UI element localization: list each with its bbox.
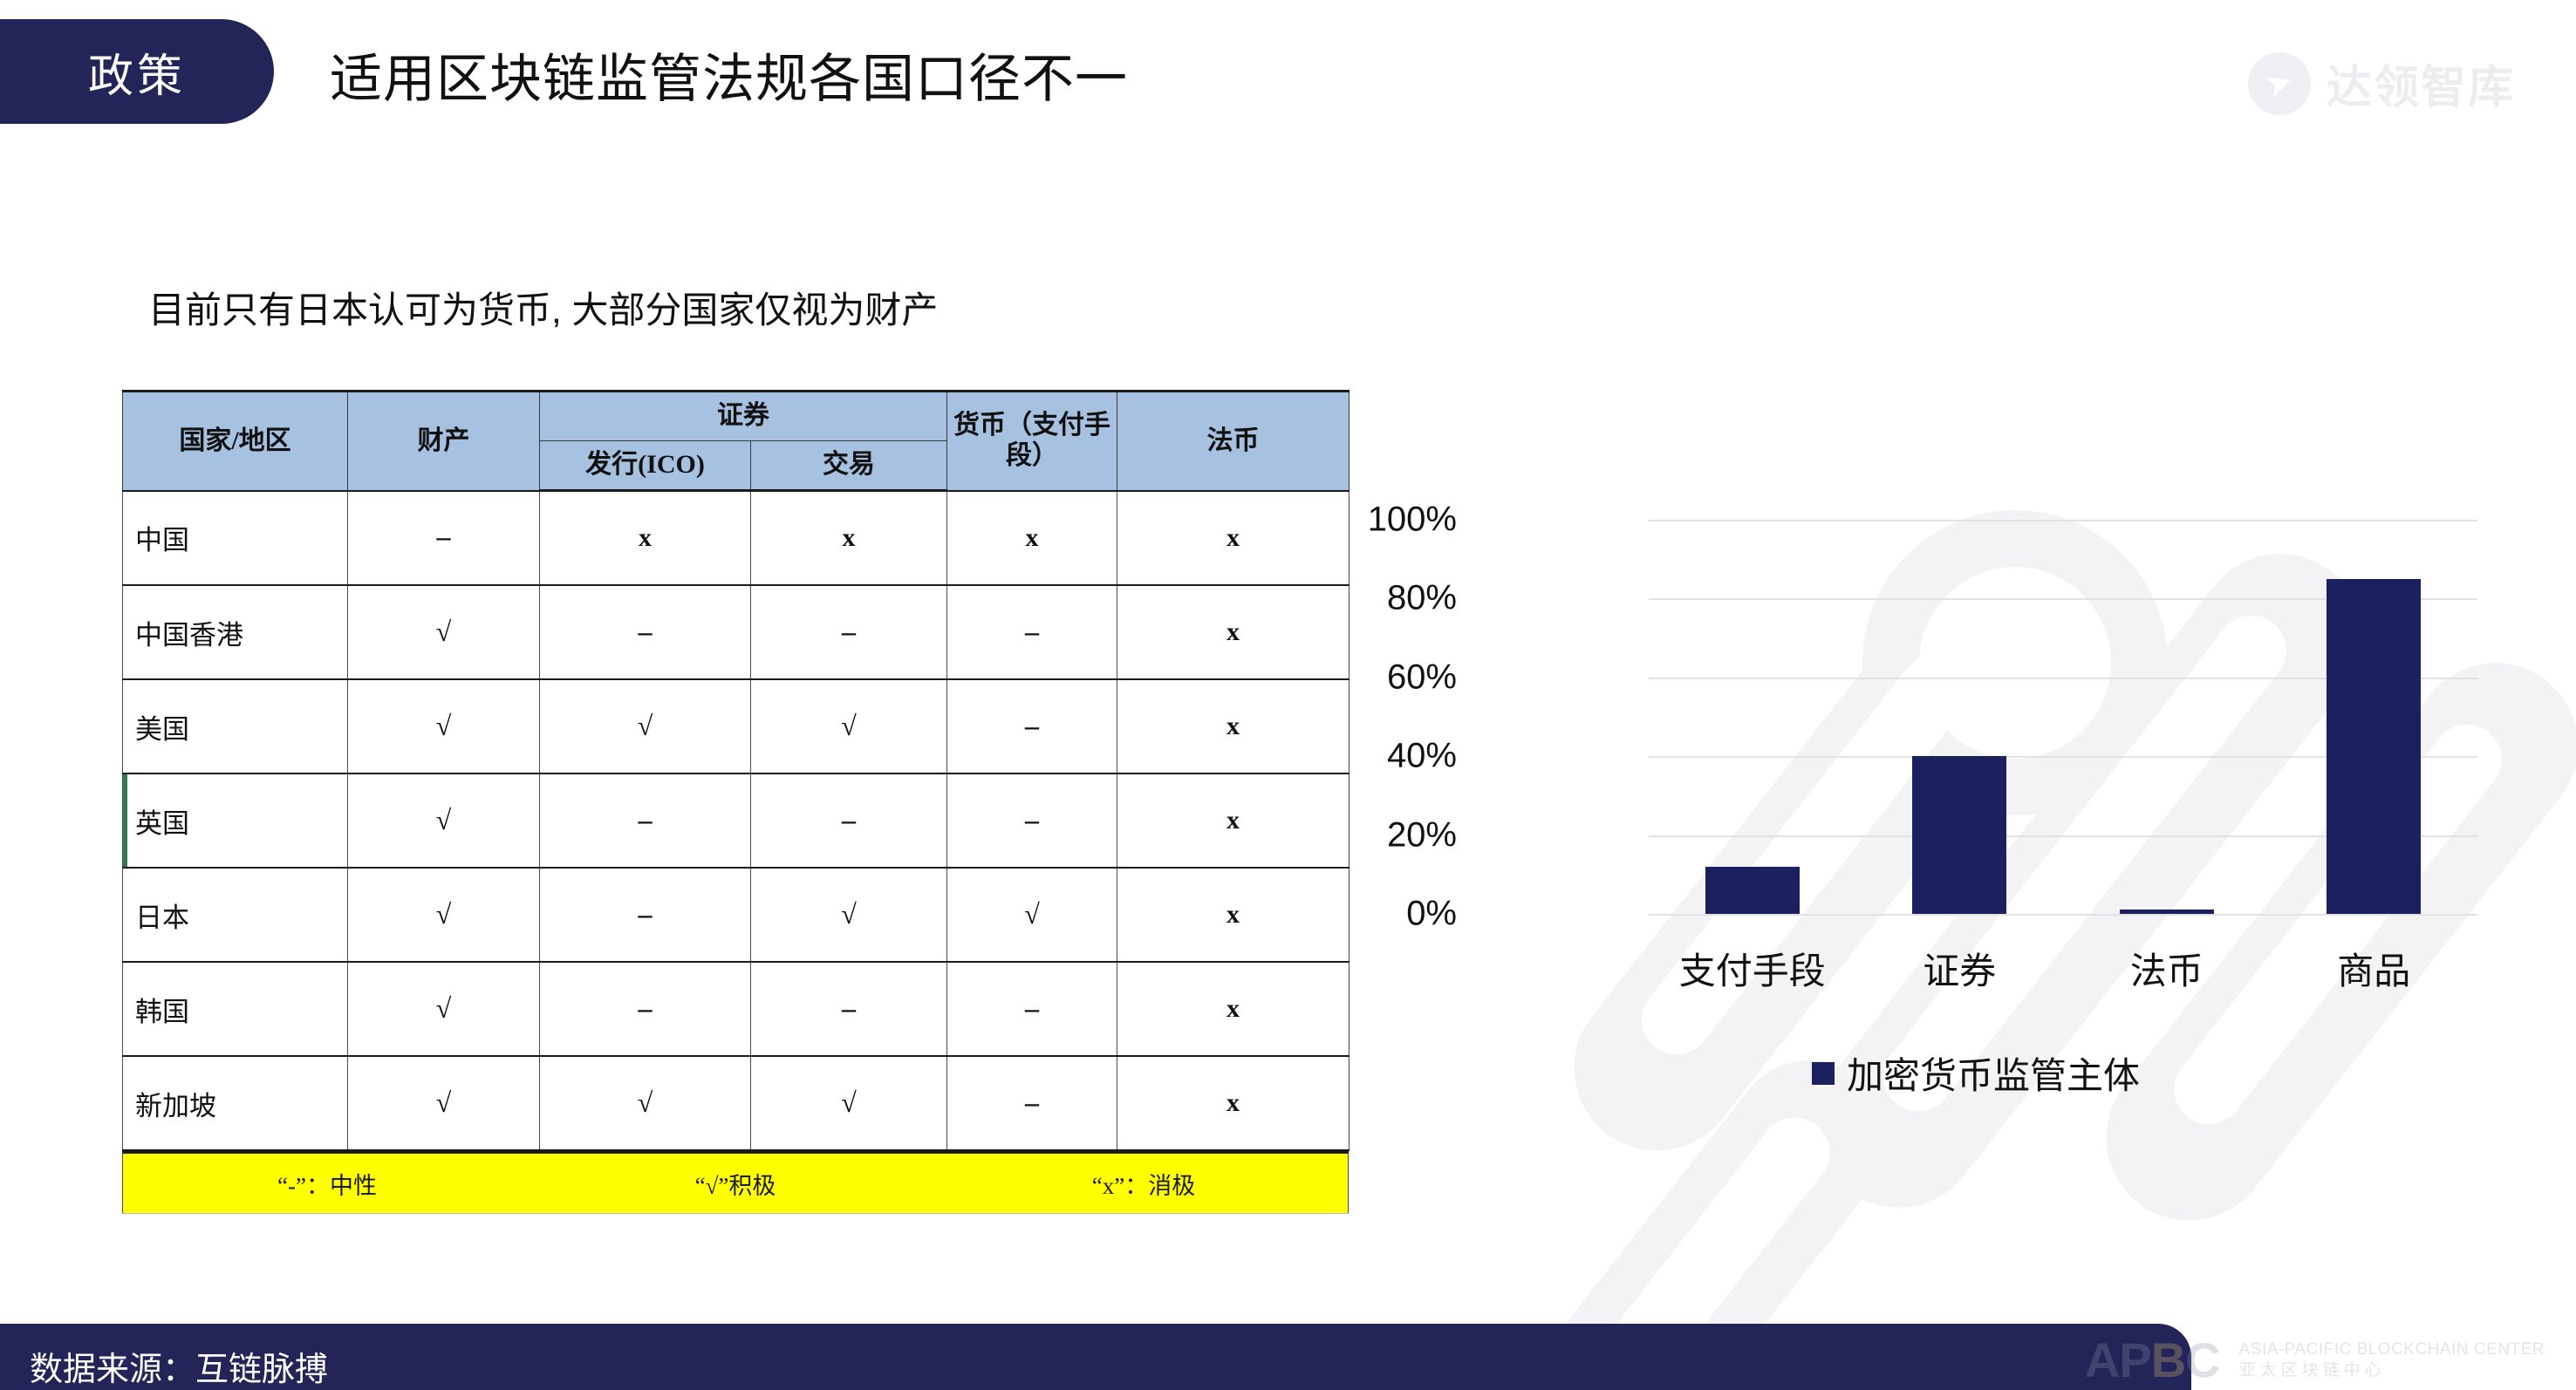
status-mark: x <box>1227 619 1240 645</box>
cell-ico: x <box>540 491 751 586</box>
cell-trade: √ <box>751 868 947 962</box>
cell-ico: – <box>540 962 751 1056</box>
status-mark: √ <box>638 1088 653 1116</box>
cell-trade: – <box>751 585 947 679</box>
chart-x-tick-label: 证券 <box>1923 942 1996 995</box>
table-row: 中国香港√–––x <box>123 585 1349 679</box>
col-header-fiat: 法币 <box>1117 392 1349 491</box>
status-mark: – <box>1025 806 1039 834</box>
rocket-glyph: ➤ <box>2261 63 2299 104</box>
col-header-ico: 发行(ICO) <box>540 441 751 491</box>
apbc-wordmark: APBC <box>2085 1336 2220 1385</box>
table-legend-item: “√”积极 <box>531 1167 940 1201</box>
chart-y-tick-label: 20% <box>1265 815 1457 855</box>
status-mark: – <box>437 522 451 550</box>
table-body: 中国–xxxx中国香港√–––x美国√√√–x英国√–––x日本√–√√x韩国√… <box>123 491 1349 1151</box>
brand-logo-text: 达领智库 <box>2327 51 2515 116</box>
cell-property: √ <box>348 1056 540 1150</box>
cell-trade: x <box>751 491 947 586</box>
section-badge-label: 政策 <box>88 39 186 105</box>
section-badge: 政策 <box>0 19 274 124</box>
status-mark: x <box>1227 996 1240 1022</box>
status-mark: √ <box>841 900 857 928</box>
status-mark: √ <box>1024 900 1040 928</box>
cell-ico: – <box>540 868 751 962</box>
status-mark: x <box>1026 525 1039 551</box>
col-header-securities: 证券 <box>540 392 947 441</box>
cell-currency: x <box>947 491 1117 586</box>
currency-header-line-1: 货币（支付手 <box>953 411 1110 439</box>
cell-fiat: x <box>1117 1056 1349 1150</box>
cell-country: 韩国 <box>123 962 348 1056</box>
rocket-circle-icon: ➤ <box>2248 52 2311 115</box>
cell-country: 英国 <box>123 773 348 868</box>
bar-chart: 支付手段证券法币商品 加密货币监管主体 0%20%40%60%80%100% <box>1431 488 2521 1134</box>
status-mark: √ <box>638 712 653 739</box>
cell-ico: – <box>540 585 751 679</box>
status-mark: – <box>639 617 653 645</box>
chart-y-tick-label: 40% <box>1265 737 1457 776</box>
status-mark: – <box>639 994 653 1022</box>
chart-x-tick-label: 支付手段 <box>1679 942 1826 995</box>
chart-bar-slot <box>1649 520 1856 914</box>
status-mark: x <box>639 525 652 551</box>
status-mark: – <box>1025 1088 1039 1116</box>
chart-y-tick-label: 0% <box>1265 895 1457 934</box>
cell-property: √ <box>348 962 540 1056</box>
subtitle: 目前只有日本认可为货币, 大部分国家仅视为财产 <box>148 281 938 334</box>
apbc-logo: APBC ASIA-PACIFIC BLOCKCHAIN CENTER 亚太区块… <box>2085 1336 2545 1385</box>
policy-table: 国家/地区 财产 证券 货币（支付手 段） 法币 发行(ICO) 交易 中国–x… <box>122 390 1349 1151</box>
chart-bar <box>1912 756 2006 914</box>
status-mark: – <box>639 900 653 928</box>
cell-ico: √ <box>540 679 751 773</box>
table-legend-item: “x”：消极 <box>940 1167 1348 1201</box>
cell-property: √ <box>348 868 540 962</box>
chart-legend: 加密货币监管主体 <box>1431 1046 2521 1100</box>
table-row: 美国√√√–x <box>123 679 1349 773</box>
table-row: 中国–xxxx <box>123 491 1349 586</box>
cell-country: 日本 <box>123 868 348 962</box>
table-row: 新加坡√√√–x <box>123 1056 1349 1150</box>
cell-property: – <box>348 491 540 586</box>
chart-bar-slot <box>1856 520 2064 914</box>
col-header-country: 国家/地区 <box>123 392 348 491</box>
table-row: 英国√–––x <box>123 773 1349 868</box>
status-mark: √ <box>436 900 452 928</box>
status-mark: x <box>1227 713 1240 739</box>
cell-fiat: x <box>1117 962 1349 1056</box>
status-mark: – <box>842 994 856 1022</box>
cell-currency: – <box>947 773 1117 868</box>
col-header-property: 财产 <box>348 392 540 491</box>
status-mark: – <box>1025 617 1039 645</box>
cell-ico: – <box>540 773 751 868</box>
cell-currency: – <box>947 585 1117 679</box>
chart-y-tick-label: 80% <box>1265 579 1457 618</box>
cell-currency: – <box>947 679 1117 773</box>
cell-trade: – <box>751 773 947 868</box>
chart-legend-label: 加密货币监管主体 <box>1847 1046 2140 1100</box>
table-head: 国家/地区 财产 证券 货币（支付手 段） 法币 发行(ICO) 交易 <box>123 392 1349 491</box>
bitcoin-b-glyph: B <box>2151 1332 2185 1387</box>
footer-bar <box>0 1324 2191 1390</box>
chart-y-tick-label: 60% <box>1265 658 1457 697</box>
status-mark: √ <box>841 1088 857 1116</box>
status-mark: – <box>1025 994 1039 1022</box>
cell-property: √ <box>348 679 540 773</box>
chart-x-tick-label: 法币 <box>2130 942 2204 995</box>
chart-bar-slot <box>2063 520 2271 914</box>
status-mark: – <box>842 806 856 834</box>
apbc-subtitle: ASIA-PACIFIC BLOCKCHAIN CENTER 亚太区块链中心 <box>2239 1339 2545 1381</box>
chart-x-tick-label: 商品 <box>2337 942 2410 995</box>
status-mark: x <box>1227 1090 1240 1116</box>
status-mark: √ <box>436 994 452 1022</box>
cell-property: √ <box>348 585 540 679</box>
col-header-currency: 货币（支付手 段） <box>947 392 1117 491</box>
status-mark: √ <box>436 617 452 645</box>
policy-table-wrapper: 国家/地区 财产 证券 货币（支付手 段） 法币 发行(ICO) 交易 中国–x… <box>122 390 1349 1214</box>
cell-country: 美国 <box>123 679 348 773</box>
cell-country: 中国 <box>123 491 348 586</box>
status-mark: – <box>1025 712 1039 739</box>
table-header-row-1: 国家/地区 财产 证券 货币（支付手 段） 法币 <box>123 392 1349 441</box>
table-row: 日本√–√√x <box>123 868 1349 962</box>
status-mark: x <box>1227 525 1240 551</box>
chart-bars-layer <box>1649 520 2477 914</box>
chart-bar-slot <box>2271 520 2478 914</box>
chart-legend-swatch <box>1812 1062 1835 1085</box>
cell-currency: – <box>947 1056 1117 1150</box>
chart-bar <box>1705 867 1800 914</box>
cell-currency: – <box>947 962 1117 1056</box>
apbc-subtitle-en: ASIA-PACIFIC BLOCKCHAIN CENTER <box>2239 1339 2545 1360</box>
status-mark: √ <box>436 806 452 834</box>
cell-ico: √ <box>540 1056 751 1150</box>
cell-trade: √ <box>751 1056 947 1150</box>
chart-y-tick-label: 100% <box>1265 501 1457 540</box>
currency-header-line-2: 段） <box>1006 441 1058 470</box>
table-legend-item: “-”：中性 <box>123 1167 531 1201</box>
chart-gridline <box>1649 914 2477 916</box>
apbc-subtitle-cn: 亚太区块链中心 <box>2239 1360 2545 1381</box>
cell-property: √ <box>348 773 540 868</box>
cell-currency: √ <box>947 868 1117 962</box>
page-title: 适用区块链监管法规各国口径不一 <box>330 37 1128 112</box>
status-mark: x <box>843 525 856 551</box>
brand-logo: ➤ 达领智库 <box>2248 51 2515 116</box>
col-header-trade: 交易 <box>751 441 947 491</box>
table-legend-bar: “-”：中性“√”积极“x”：消极 <box>122 1151 1349 1214</box>
status-mark: √ <box>841 712 857 739</box>
status-mark: √ <box>436 1088 452 1116</box>
cell-country: 中国香港 <box>123 585 348 679</box>
cell-trade: – <box>751 962 947 1056</box>
status-mark: – <box>639 806 653 834</box>
status-mark: √ <box>436 712 452 739</box>
status-mark: x <box>1227 807 1240 834</box>
status-mark: – <box>842 617 856 645</box>
status-mark: x <box>1227 902 1240 928</box>
cell-country: 新加坡 <box>123 1056 348 1150</box>
chart-bar <box>2120 910 2214 914</box>
table-row: 韩国√–––x <box>123 962 1349 1056</box>
cell-trade: √ <box>751 679 947 773</box>
chart-bar <box>2327 579 2421 914</box>
footer-source-text: 数据来源：互链脉搏 <box>30 1342 328 1390</box>
